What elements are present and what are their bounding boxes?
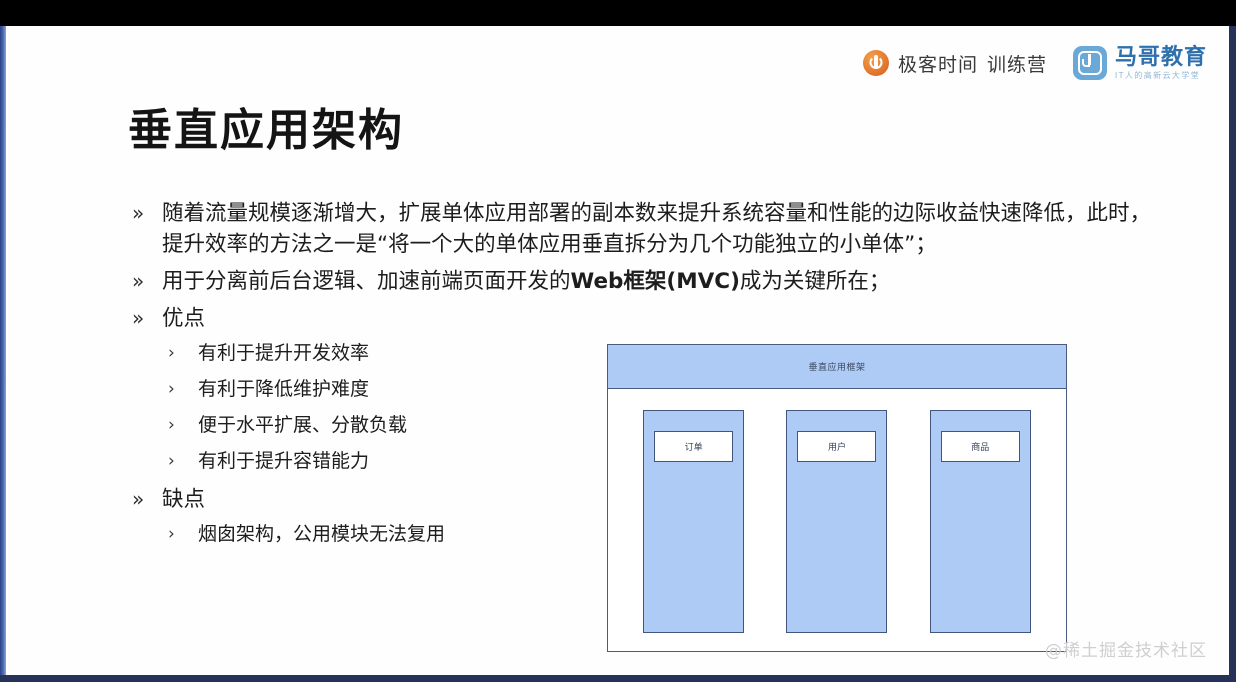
bullet-text-2-after: 成为关键所在； <box>740 269 891 294</box>
bullet-text-2-bold: Web框架(MVC) <box>571 269 740 294</box>
page-title: 垂直应用架构 <box>128 94 404 158</box>
slide-page: 极客时间训练营 马哥教育 IT人的高新云大学堂 垂直应用架构 » 随着流量规 <box>6 26 1229 675</box>
bullet-marker: » <box>132 198 162 228</box>
geektime-name: 极客时间 <box>898 54 978 76</box>
top-black-bar <box>0 0 1236 26</box>
right-edge <box>1229 26 1236 682</box>
bullet-marker: » <box>132 303 162 333</box>
sub-bullet-text: 有利于提升容错能力 <box>176 448 369 474</box>
bullet-marker: » <box>132 266 162 296</box>
diagram-column-product: 商品 <box>930 410 1031 633</box>
bullet-text-2-before: 用于分离前后台逻辑、加速前端页面开发的 <box>162 269 571 294</box>
sub-bullet-text: 烟囱架构，公用模块无法复用 <box>176 521 445 547</box>
diagram-column-label: 用户 <box>797 431 876 462</box>
bullet-item-pros: » 优点 <box>132 303 1152 334</box>
diagram-columns: 订单 用户 商品 <box>608 389 1066 653</box>
geektime-logo-text: 极客时间训练营 <box>898 50 1047 77</box>
magedu-name: 马哥教育 <box>1115 47 1207 69</box>
magedu-logo: 马哥教育 IT人的高新云大学堂 <box>1073 46 1207 80</box>
diagram-column-user: 用户 <box>786 410 887 633</box>
diagram-column-label: 商品 <box>941 431 1020 462</box>
magedu-icon-hook <box>1082 59 1090 67</box>
magedu-subtitle: IT人的高新云大学堂 <box>1115 72 1207 80</box>
screen: 极客时间训练营 马哥教育 IT人的高新云大学堂 垂直应用架构 » 随着流量规 <box>0 0 1236 682</box>
sub-bullet-marker: › <box>132 376 176 402</box>
sub-bullet-marker: › <box>132 448 176 474</box>
magedu-square-icon <box>1073 46 1107 80</box>
sub-bullet-text: 便于水平扩展、分散负载 <box>176 412 407 438</box>
diagram-header-bar: 垂直应用框架 <box>608 345 1066 389</box>
sub-bullet-marker: › <box>132 521 176 547</box>
geektime-logo: 极客时间训练营 <box>863 50 1047 77</box>
header-logos: 极客时间训练营 马哥教育 IT人的高新云大学堂 <box>863 46 1207 80</box>
geektime-flame-icon <box>863 50 889 76</box>
watermark: @稀土掘金技术社区 <box>1045 636 1207 661</box>
diagram-column-order: 订单 <box>643 410 744 633</box>
diagram-column-label: 订单 <box>654 431 733 462</box>
sub-bullet-text: 有利于提升开发效率 <box>176 340 369 366</box>
geektime-camp: 训练营 <box>987 54 1047 76</box>
bullet-item-1: » 随着流量规模逐渐增大，扩展单体应用部署的副本数来提升系统容量和性能的边际收益… <box>132 198 1152 260</box>
vertical-application-architecture-diagram: 垂直应用框架 订单 用户 商品 <box>607 344 1067 652</box>
diagram-header-label: 垂直应用框架 <box>808 360 865 373</box>
bullet-text-pros: 优点 <box>162 303 205 334</box>
bullet-text-cons: 缺点 <box>162 484 205 515</box>
bullet-text-1: 随着流量规模逐渐增大，扩展单体应用部署的副本数来提升系统容量和性能的边际收益快速… <box>162 198 1152 260</box>
sub-bullet-text: 有利于降低维护难度 <box>176 376 369 402</box>
bullet-item-2: » 用于分离前后台逻辑、加速前端页面开发的Web框架(MVC)成为关键所在； <box>132 266 1152 297</box>
bottom-edge <box>0 675 1236 682</box>
bullet-marker: » <box>132 484 162 514</box>
sub-bullet-marker: › <box>132 340 176 366</box>
sub-bullet-marker: › <box>132 412 176 438</box>
bullet-text-2: 用于分离前后台逻辑、加速前端页面开发的Web框架(MVC)成为关键所在； <box>162 266 890 297</box>
magedu-logo-text: 马哥教育 IT人的高新云大学堂 <box>1115 47 1207 80</box>
